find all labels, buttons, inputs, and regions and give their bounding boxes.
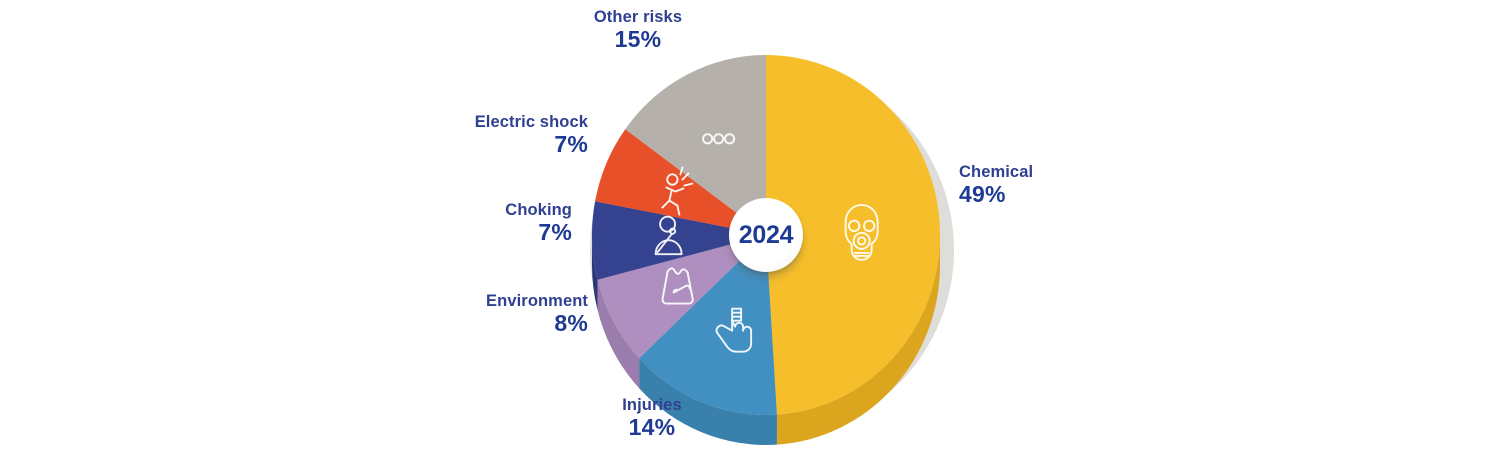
callout-injuries: Injuries 14% <box>580 396 724 441</box>
callout-choking-name: Choking <box>380 201 572 219</box>
callout-choking: Choking 7% <box>380 201 572 246</box>
callout-choking-value: 7% <box>380 220 572 246</box>
callout-environment-value: 8% <box>380 311 588 337</box>
callout-electric-shock-name: Electric shock <box>380 113 588 131</box>
callout-electric-shock-value: 7% <box>380 132 588 158</box>
callout-other-risks-value: 15% <box>513 27 763 53</box>
center-year-label: 2024 <box>739 221 793 250</box>
pie-chart: 2024 Other risks 15% Electric shock 7% C… <box>0 0 1504 470</box>
callout-other-risks: Other risks 15% <box>513 8 763 53</box>
callout-chemical: Chemical 49% <box>959 163 1129 208</box>
callout-electric-shock: Electric shock 7% <box>380 113 588 158</box>
callout-chemical-value: 49% <box>959 182 1129 208</box>
callout-other-risks-name: Other risks <box>513 8 763 26</box>
callout-chemical-name: Chemical <box>959 163 1129 181</box>
callout-environment-name: Environment <box>380 292 588 310</box>
chart-canvas: 2024 Other risks 15% Electric shock 7% C… <box>0 0 1504 470</box>
callout-injuries-value: 14% <box>580 415 724 441</box>
callout-injuries-name: Injuries <box>580 396 724 414</box>
callout-environment: Environment 8% <box>380 292 588 337</box>
center-year-badge: 2024 <box>729 198 803 272</box>
